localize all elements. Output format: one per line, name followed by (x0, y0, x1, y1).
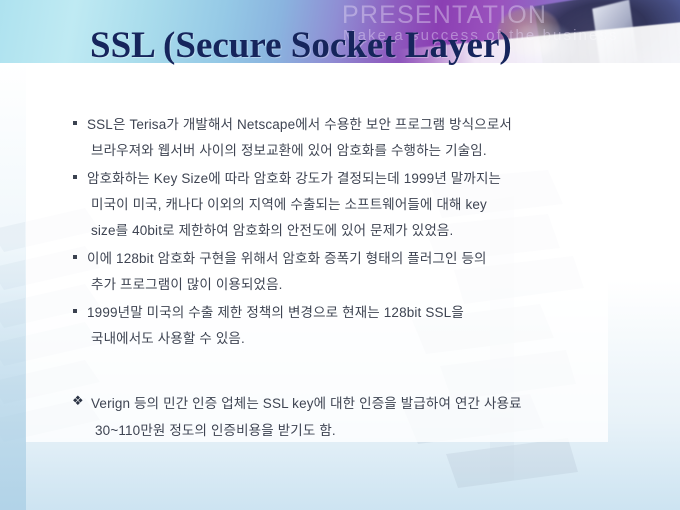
bullet-line: 브라우져와 웹서버 사이의 정보교환에 있어 암호화를 수행하는 기술임. (91, 138, 634, 164)
list-item: 암호화하는 Key Size에 따라 암호화 강도가 결정되는데 1999년 말… (72, 166, 634, 244)
bullet-line: 추가 프로그램이 많이 이용되었음. (91, 272, 634, 298)
bullet-line: 이에 128bit 암호화 구현을 위해서 암호화 증폭기 형태의 플러그인 등… (87, 246, 634, 272)
bullet-line: size를 40bit로 제한하여 암호화의 안전도에 있어 문제가 있었음. (91, 218, 634, 244)
square-bullet-icon (73, 121, 77, 125)
bullet-line: 암호화하는 Key Size에 따라 암호화 강도가 결정되는데 1999년 말… (87, 166, 634, 192)
bullet-line: SSL은 Terisa가 개발해서 Netscape에서 수용한 보안 프로그램… (87, 112, 634, 138)
square-bullet-icon (73, 255, 77, 259)
section-spacer (72, 354, 634, 390)
list-item: SSL은 Terisa가 개발해서 Netscape에서 수용한 보안 프로그램… (72, 112, 634, 164)
diamond-bullet-icon: ❖ (72, 389, 84, 413)
square-bullet-icon (73, 175, 77, 179)
bullet-line: 미국이 미국, 캐나다 이외의 지역에 수출되는 소프트웨어들에 대해 key (91, 192, 634, 218)
bullet-line: 국내에서도 사용할 수 있음. (91, 326, 634, 352)
slide-body: SSL은 Terisa가 개발해서 Netscape에서 수용한 보안 프로그램… (0, 0, 680, 510)
presentation-slide: PRESENTATION Make a success of the busin… (0, 0, 680, 510)
list-item: 이에 128bit 암호화 구현을 위해서 암호화 증폭기 형태의 플러그인 등… (72, 246, 634, 298)
bullet-line: 1999년말 미국의 수출 제한 정책의 변경으로 현재는 128bit SSL… (87, 300, 634, 326)
footnote-line: 30~110만원 정도의 인증비용을 받기도 함. (95, 417, 634, 444)
bullet-list: SSL은 Terisa가 개발해서 Netscape에서 수용한 보안 프로그램… (72, 112, 634, 446)
list-item: 1999년말 미국의 수출 제한 정책의 변경으로 현재는 128bit SSL… (72, 300, 634, 352)
footnote-line: Verign 등의 민간 인증 업체는 SSL key에 대한 인증을 발급하여… (91, 390, 634, 417)
footnote-item: ❖ Verign 등의 민간 인증 업체는 SSL key에 대한 인증을 발급… (72, 390, 634, 444)
square-bullet-icon (73, 309, 77, 313)
